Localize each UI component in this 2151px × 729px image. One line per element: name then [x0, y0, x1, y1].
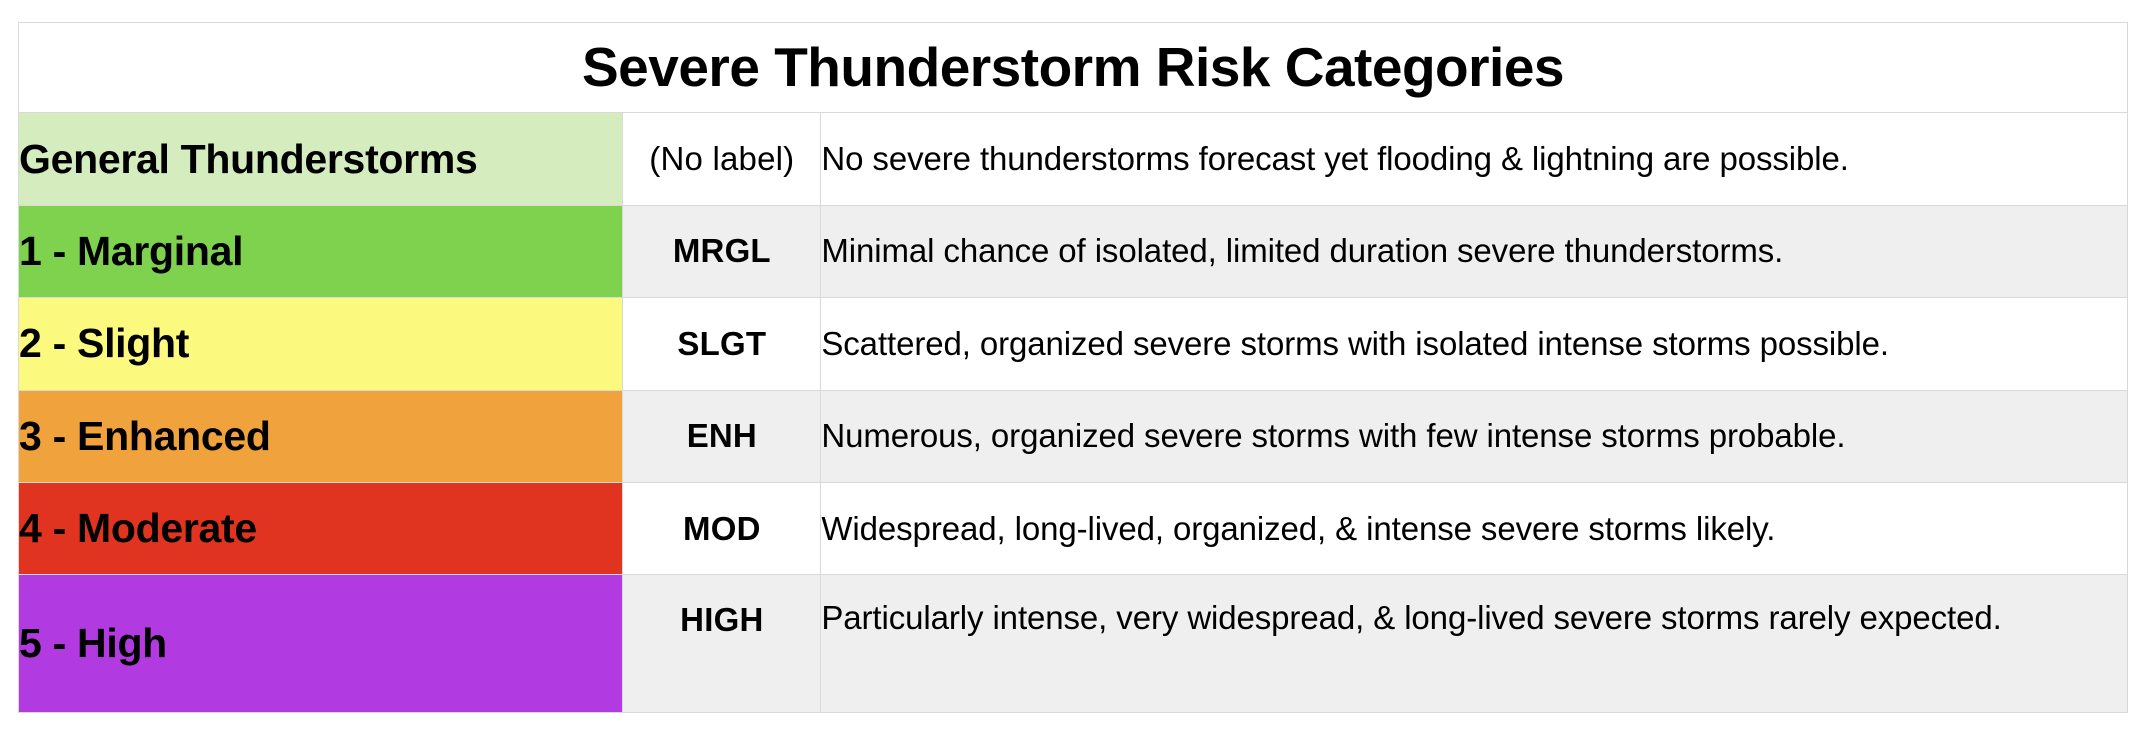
table-row: 1 - Marginal MRGL Minimal chance of isol… [19, 205, 2128, 297]
risk-category-label: 2 - Slight [19, 320, 189, 366]
risk-abbreviation-slight: SLGT [623, 298, 821, 390]
risk-description-slight: Scattered, organized severe storms with … [821, 298, 2128, 390]
table-title-cell: Severe Thunderstorm Risk Categories [19, 23, 2128, 113]
table-row: 3 - Enhanced ENH Numerous, organized sev… [19, 390, 2128, 482]
table-row: 2 - Slight SLGT Scattered, organized sev… [19, 298, 2128, 390]
risk-category-swatch-enhanced: 3 - Enhanced [19, 390, 623, 482]
risk-category-swatch-high: 5 - High [19, 575, 623, 713]
risk-category-swatch-slight: 2 - Slight [19, 298, 623, 390]
risk-description-marginal: Minimal chance of isolated, limited dura… [821, 205, 2128, 297]
table-row: General Thunderstorms (No label) No seve… [19, 113, 2128, 205]
risk-description-moderate: Widespread, long-lived, organized, & int… [821, 482, 2128, 574]
risk-abbreviation-general: (No label) [623, 113, 821, 205]
risk-category-swatch-moderate: 4 - Moderate [19, 482, 623, 574]
risk-category-label: 3 - Enhanced [19, 413, 271, 459]
risk-description-enhanced: Numerous, organized severe storms with f… [821, 390, 2128, 482]
risk-category-label: 4 - Moderate [19, 505, 257, 551]
risk-category-label: 5 - High [19, 620, 167, 666]
risk-table-container: Severe Thunderstorm Risk Categories Gene… [18, 22, 2128, 713]
risk-category-label: General Thunderstorms [19, 136, 477, 182]
risk-abbreviation-high: HIGH [623, 575, 821, 713]
table-row: 5 - High HIGH Particularly intense, very… [19, 575, 2128, 713]
risk-abbreviation-moderate: MOD [623, 482, 821, 574]
risk-description-high: Particularly intense, very widespread, &… [821, 575, 2128, 713]
table-row: 4 - Moderate MOD Widespread, long-lived,… [19, 482, 2128, 574]
table-title-row: Severe Thunderstorm Risk Categories [19, 23, 2128, 113]
risk-abbreviation-enhanced: ENH [623, 390, 821, 482]
risk-description-general: No severe thunderstorms forecast yet flo… [821, 113, 2128, 205]
page-title: Severe Thunderstorm Risk Categories [19, 39, 2127, 97]
risk-abbreviation-marginal: MRGL [623, 205, 821, 297]
severe-thunderstorm-risk-table: Severe Thunderstorm Risk Categories Gene… [18, 22, 2128, 713]
risk-category-swatch-marginal: 1 - Marginal [19, 205, 623, 297]
risk-category-label: 1 - Marginal [19, 228, 243, 274]
risk-category-swatch-general: General Thunderstorms [19, 113, 623, 205]
